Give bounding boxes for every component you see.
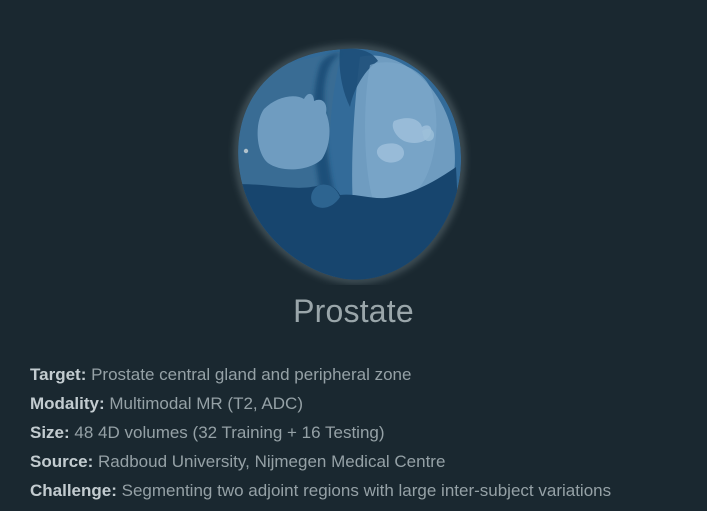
details-list: Target: Prostate central gland and perip… [30, 360, 701, 505]
detail-value-size: 48 4D volumes (32 Training + 16 Testing) [74, 423, 384, 442]
detail-label-modality: Modality: [30, 394, 105, 413]
organ-specular-dot [243, 149, 247, 153]
illustration-container [0, 30, 707, 290]
detail-value-challenge: Segmenting two adjoint regions with larg… [122, 481, 611, 500]
dataset-card: Prostate Target: Prostate central gland … [0, 0, 707, 511]
detail-row-target: Target: Prostate central gland and perip… [30, 360, 701, 389]
detail-row-size: Size: 48 4D volumes (32 Training + 16 Te… [30, 418, 701, 447]
detail-row-challenge: Challenge: Segmenting two adjoint region… [30, 476, 701, 505]
detail-row-modality: Modality: Multimodal MR (T2, ADC) [30, 389, 701, 418]
prostate-organ-illustration [224, 35, 484, 285]
detail-value-source: Radboud University, Nijmegen Medical Cen… [98, 452, 445, 471]
organ-left-light-patch [257, 94, 329, 169]
detail-label-source: Source: [30, 452, 93, 471]
detail-label-target: Target: [30, 365, 86, 384]
detail-value-modality: Multimodal MR (T2, ADC) [109, 394, 303, 413]
detail-label-challenge: Challenge: [30, 481, 117, 500]
detail-row-source: Source: Radboud University, Nijmegen Med… [30, 447, 701, 476]
page-title: Prostate [0, 292, 707, 330]
detail-label-size: Size: [30, 423, 70, 442]
detail-value-target: Prostate central gland and peripheral zo… [91, 365, 411, 384]
